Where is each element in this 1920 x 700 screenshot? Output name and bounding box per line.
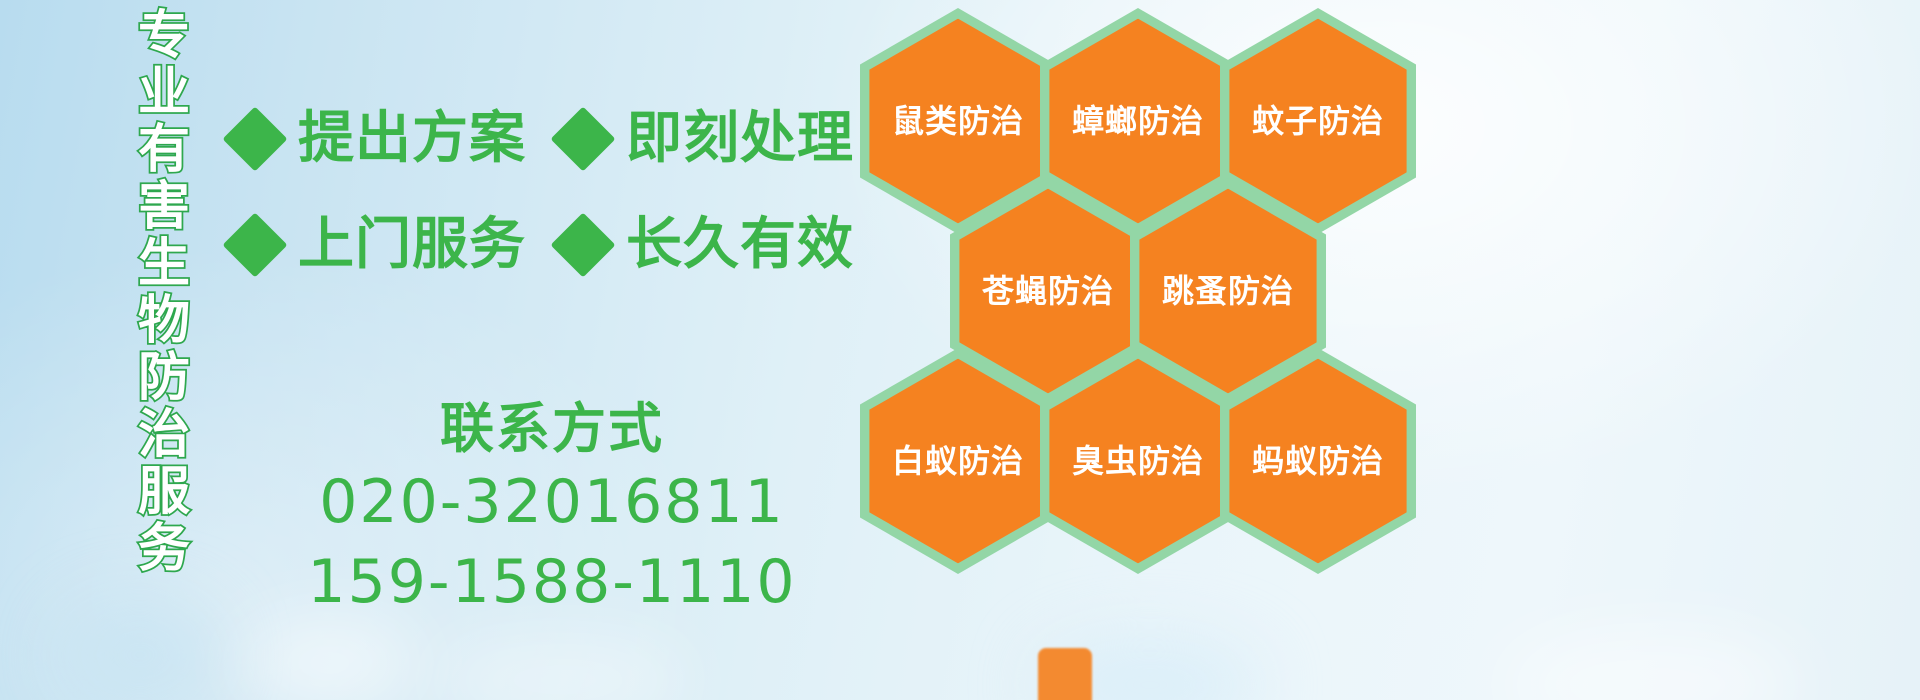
vertical-slogan-char: 业 xyxy=(138,65,190,122)
feature-item-onsite-service: 上门服务 xyxy=(232,215,526,275)
service-label: 蚊子防治 xyxy=(1220,103,1416,139)
pest-control-banner: 专 业 有 害 生 物 防 治 服 务 提出方案 即刻处理 上门服务 xyxy=(0,0,1920,700)
contact-block: 联系方式 020-32016811 159-1588-1110 xyxy=(232,396,872,622)
feature-item-propose-plan: 提出方案 xyxy=(232,109,526,169)
background-blur-blob xyxy=(430,640,690,700)
vertical-slogan-char: 害 xyxy=(138,179,190,236)
vertical-slogan-char: 生 xyxy=(138,236,190,293)
vertical-slogan-char: 服 xyxy=(138,464,190,521)
diamond-bullet-icon xyxy=(222,212,287,277)
service-label: 苍蝇防治 xyxy=(950,273,1146,309)
diamond-bullet-icon xyxy=(222,106,287,171)
service-label: 鼠类防治 xyxy=(860,103,1056,139)
vertical-slogan-char: 治 xyxy=(138,407,190,464)
feature-item-long-lasting: 长久有效 xyxy=(560,215,854,275)
feature-label: 长久有效 xyxy=(626,215,854,275)
contact-phone-mobile[interactable]: 159-1588-1110 xyxy=(232,542,872,622)
service-honeycomb: 鼠类防治 蟑螂防治 蚊子防治 苍蝇防治 跳蚤防治 白蚁防治 xyxy=(856,0,1476,570)
vertical-slogan-char: 专 xyxy=(138,8,190,65)
service-label: 跳蚤防治 xyxy=(1130,273,1326,309)
vertical-slogan: 专 业 有 害 生 物 防 治 服 务 xyxy=(112,8,216,578)
background-orange-accent xyxy=(1038,648,1092,700)
contact-phone-landline[interactable]: 020-32016811 xyxy=(232,462,872,542)
feature-item-immediate-handling: 即刻处理 xyxy=(560,109,854,169)
diamond-bullet-icon xyxy=(550,106,615,171)
service-label: 蚂蚁防治 xyxy=(1220,443,1416,479)
feature-list: 提出方案 即刻处理 上门服务 长久有效 xyxy=(232,86,872,298)
feature-row: 提出方案 即刻处理 xyxy=(232,86,872,192)
vertical-slogan-char: 有 xyxy=(138,122,190,179)
feature-row: 上门服务 长久有效 xyxy=(232,192,872,298)
contact-title: 联系方式 xyxy=(232,396,872,462)
service-hex-termite[interactable]: 白蚁防治 xyxy=(860,348,1056,574)
vertical-slogan-char: 物 xyxy=(138,293,190,350)
background-blur-blob xyxy=(240,618,420,700)
vertical-slogan-char: 防 xyxy=(138,350,190,407)
service-hex-ant[interactable]: 蚂蚁防治 xyxy=(1220,348,1416,574)
diamond-bullet-icon xyxy=(550,212,615,277)
service-label: 蟑螂防治 xyxy=(1040,103,1236,139)
service-hex-bedbug[interactable]: 臭虫防治 xyxy=(1040,348,1236,574)
vertical-slogan-char: 务 xyxy=(138,521,190,578)
feature-label: 上门服务 xyxy=(298,215,526,275)
feature-label: 提出方案 xyxy=(298,109,526,169)
background-blur-blob xyxy=(1500,630,1800,700)
background-blur-blob xyxy=(60,600,220,700)
service-label: 白蚁防治 xyxy=(860,443,1056,479)
feature-label: 即刻处理 xyxy=(626,109,854,169)
service-label: 臭虫防治 xyxy=(1040,443,1236,479)
